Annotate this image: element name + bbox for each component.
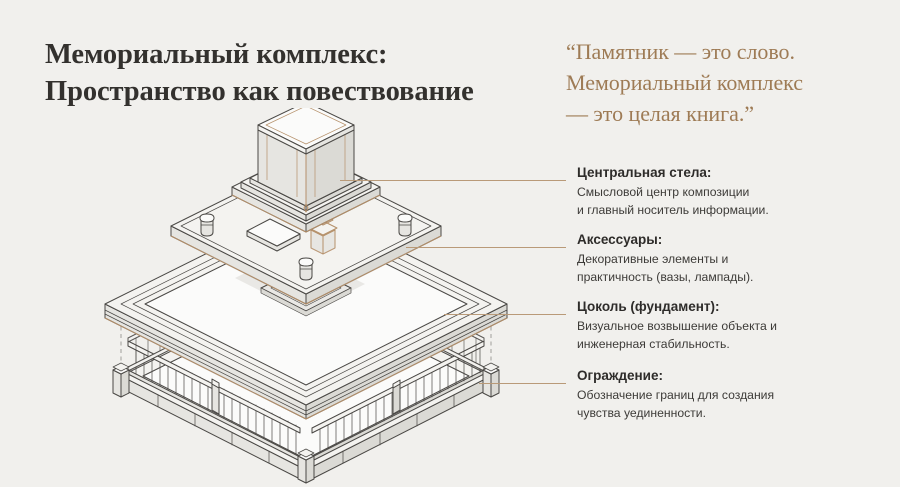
label-title-plinth: Цоколь (фундамент): <box>577 298 877 316</box>
connector-line-central-stele <box>340 180 566 181</box>
label-desc-accessories: Декоративные элементы и практичность (ва… <box>577 251 877 286</box>
vase-icon-right <box>398 214 412 236</box>
pull-quote-line-1: “Памятник — это слово. <box>566 36 886 67</box>
label-desc-line: инженерная стабильность. <box>577 336 877 353</box>
vase-icon-left <box>200 214 214 236</box>
connector-line-plinth <box>444 314 566 315</box>
pull-quote-line-2: Мемориальный комплекс <box>566 67 886 98</box>
label-title-accessories: Аксессуары: <box>577 231 877 249</box>
label-desc-line: и главный носитель информации. <box>577 202 877 219</box>
label-desc-fence: Обозначение границ для создания чувства … <box>577 387 877 422</box>
label-desc-line: Обозначение границ для создания <box>577 387 877 404</box>
label-title-central-stele: Центральная стела: <box>577 164 877 182</box>
connector-line-fence <box>479 383 566 384</box>
infographic-page: Мемориальный комплекс: Пространство как … <box>0 0 900 487</box>
label-desc-line: Декоративные элементы и <box>577 251 877 268</box>
pull-quote: “Памятник — это слово. Мемориальный комп… <box>566 36 886 130</box>
label-block-accessories: Аксессуары: Декоративные элементы и прак… <box>577 231 877 286</box>
label-desc-line: Визуальное возвышение объекта и <box>577 318 877 335</box>
page-title: Мемориальный комплекс: Пространство как … <box>45 36 545 110</box>
connector-line-accessories <box>406 247 566 248</box>
label-block-central-stele: Центральная стела: Смысловой центр компо… <box>577 164 877 219</box>
label-desc-line: практичность (вазы, лампады). <box>577 269 877 286</box>
pull-quote-line-3: — это целая книга.” <box>566 98 886 129</box>
label-block-plinth: Цоколь (фундамент): Визуальное возвышени… <box>577 298 877 353</box>
label-desc-line: чувства уединенности. <box>577 405 877 422</box>
page-title-line-2: Пространство как повествование <box>45 73 545 110</box>
label-desc-line: Смысловой центр композиции <box>577 184 877 201</box>
label-title-fence: Ограждение: <box>577 367 877 385</box>
label-desc-plinth: Визуальное возвышение объекта и инженерн… <box>577 318 877 353</box>
vase-icon-front <box>299 258 313 280</box>
memorial-complex-illustration: .ln{fill:none;stroke:#4a4845;stroke-widt… <box>95 108 515 487</box>
page-title-line-1: Мемориальный комплекс: <box>45 36 545 73</box>
label-desc-central-stele: Смысловой центр композиции и главный нос… <box>577 184 877 219</box>
label-block-fence: Ограждение: Обозначение границ для созда… <box>577 367 877 422</box>
